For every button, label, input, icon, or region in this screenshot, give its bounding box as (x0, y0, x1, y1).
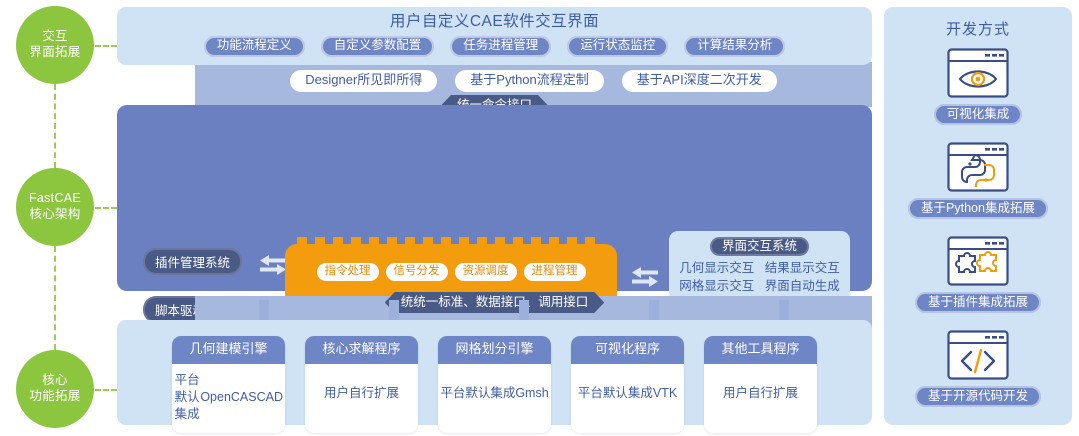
stage-circle-core-func[interactable]: 核心 功能拓展 (16, 350, 94, 428)
dev-method-label: 基于开源代码开发 (915, 386, 1041, 407)
dev-method-row: Designer所见即所得 基于Python流程定制 基于API深度二次开发 (195, 70, 872, 92)
system-label-plugin[interactable]: 插件管理系统 (143, 248, 242, 275)
dev-method-item-python[interactable]: 基于Python集成拓展 (884, 142, 1072, 219)
subsystem-item: 几何显示交互 (677, 260, 757, 277)
hub-function-row-top: 指令处理 信号分发 资源调度 进程管理 (285, 263, 617, 281)
feature-tag[interactable]: 计算结果分析 (684, 36, 785, 57)
banner-unified-standard: 统统一标准、数据接口、调用接口 (385, 292, 605, 313)
subsystem-item: 网格显示交互 (677, 278, 757, 295)
stage-label-line2: 界面拓展 (29, 45, 80, 61)
dev-method-pill[interactable]: Designer所见即所得 (290, 70, 437, 92)
engine-body-line1: 用户自行扩展 (324, 385, 399, 402)
engine-body-line2: 集成VTK (628, 385, 677, 402)
stage-label-line2: 核心架构 (29, 207, 80, 223)
subsystem-item-grid: 几何显示交互 结果显示交互 网格显示交互 界面自动生成 (669, 260, 850, 295)
python-window-icon (947, 142, 1009, 192)
stage-circle-core-arch[interactable]: FastCAE 核心架构 (16, 168, 94, 246)
main-column: 用户自定义CAE软件交互界面 功能流程定义 自定义参数配置 任务进程管理 运行状… (117, 0, 872, 436)
subsystem-item: 结果显示交互 (763, 260, 843, 277)
hub-function-pill[interactable]: 指令处理 (317, 263, 379, 281)
engine-card-title: 网格划分引擎 (438, 336, 551, 364)
diagram-canvas: 交互 界面拓展 FastCAE 核心架构 核心 功能拓展 用户自定义CAE软件交… (0, 0, 1079, 436)
dev-method-item-plugin[interactable]: 基于插件集成拓展 (884, 236, 1072, 313)
engine-body-line1: 平台默认集成 (174, 372, 200, 423)
engine-card[interactable]: 可视化程序 平台默认 集成VTK (571, 336, 684, 433)
core-architecture-panel: 插件管理系统 脚本驱动系统 求解器适配 管理系统 (117, 105, 872, 291)
engine-card[interactable]: 核心求解程序 用户自行扩展 (305, 336, 418, 433)
subsystem-card-ui: 界面交互系统 几何显示交互 结果显示交互 网格显示交互 界面自动生成 (669, 231, 850, 303)
hub-function-pill[interactable]: 资源调度 (455, 263, 517, 281)
engine-body-line2: 集成Gmsh (490, 385, 548, 402)
subsystem-title: 界面交互系统 (710, 237, 809, 256)
subsystem-item: 界面自动生成 (763, 278, 843, 295)
engine-card-body: 平台默认集成 OpenCASCAD (172, 364, 285, 433)
dev-method-label: 基于插件集成拓展 (915, 292, 1041, 313)
dev-method-pill[interactable]: 基于API深度二次开发 (622, 70, 777, 92)
dev-method-item-visual[interactable]: 可视化集成 (884, 48, 1072, 125)
dashed-connector-horizontal (95, 207, 117, 209)
page-title: 用户自定义CAE软件交互界面 (117, 9, 872, 31)
stage-circle-interaction[interactable]: 交互 界面拓展 (16, 6, 94, 84)
feature-tag[interactable]: 运行状态监控 (567, 36, 668, 57)
dev-method-label: 可视化集成 (934, 104, 1023, 125)
engine-card[interactable]: 其他工具程序 用户自行扩展 (704, 336, 817, 433)
stage-label-line2: 功能拓展 (29, 389, 80, 405)
dashed-connector-horizontal (95, 389, 117, 391)
engine-body-line1: 平台默认 (578, 385, 628, 402)
engine-card-title: 可视化程序 (571, 336, 684, 364)
code-window-icon (947, 330, 1009, 380)
puzzle-window-icon (947, 236, 1009, 286)
engine-body-line1: 用户自行扩展 (723, 385, 798, 402)
engine-card-body: 平台默认 集成Gmsh (438, 364, 551, 424)
engine-card-title: 其他工具程序 (704, 336, 817, 364)
engine-card-title: 核心求解程序 (305, 336, 418, 364)
engine-card-row: 几何建模引擎 平台默认集成 OpenCASCAD 核心求解程序 用户自行扩展 网… (117, 336, 872, 433)
stage-column: 交互 界面拓展 FastCAE 核心架构 核心 功能拓展 (0, 0, 110, 436)
dashed-connector-vertical (54, 84, 56, 168)
stage-label-line1: 核心 (42, 373, 68, 389)
feature-tag[interactable]: 任务进程管理 (450, 36, 551, 57)
eye-window-icon (947, 48, 1009, 98)
dev-method-pill[interactable]: 基于Python流程定制 (455, 70, 603, 92)
dev-method-item-code[interactable]: 基于开源代码开发 (884, 330, 1072, 407)
engine-card[interactable]: 网格划分引擎 平台默认 集成Gmsh (438, 336, 551, 433)
stage-label-line1: 交互 (42, 29, 68, 45)
feature-tag[interactable]: 功能流程定义 (204, 36, 305, 57)
dashed-connector-horizontal (95, 45, 117, 47)
hub-function-pill[interactable]: 信号分发 (386, 263, 448, 281)
hub-teeth-top (285, 237, 617, 244)
engine-card[interactable]: 几何建模引擎 平台默认集成 OpenCASCAD (172, 336, 285, 433)
engine-body-line1: 平台默认 (440, 385, 490, 402)
engine-card-body: 平台默认 集成VTK (571, 364, 684, 424)
dev-method-label: 基于Python集成拓展 (908, 198, 1048, 219)
dashed-connector-vertical (54, 246, 56, 350)
engine-card-title: 几何建模引擎 (172, 336, 285, 364)
hub-function-pill[interactable]: 进程管理 (524, 263, 586, 281)
feature-tag[interactable]: 自定义参数配置 (321, 36, 435, 57)
engine-card-body: 用户自行扩展 (305, 364, 418, 424)
development-method-title: 开发方式 (884, 18, 1072, 39)
stage-label-line1: FastCAE (29, 191, 81, 207)
feature-tag-row: 功能流程定义 自定义参数配置 任务进程管理 运行状态监控 计算结果分析 (117, 36, 872, 57)
engine-card-body: 用户自行扩展 (704, 364, 817, 424)
bidirectional-arrow-icon (258, 253, 288, 277)
engine-body-line2: OpenCASCAD (200, 389, 283, 406)
bidirectional-arrow-icon (630, 265, 660, 289)
